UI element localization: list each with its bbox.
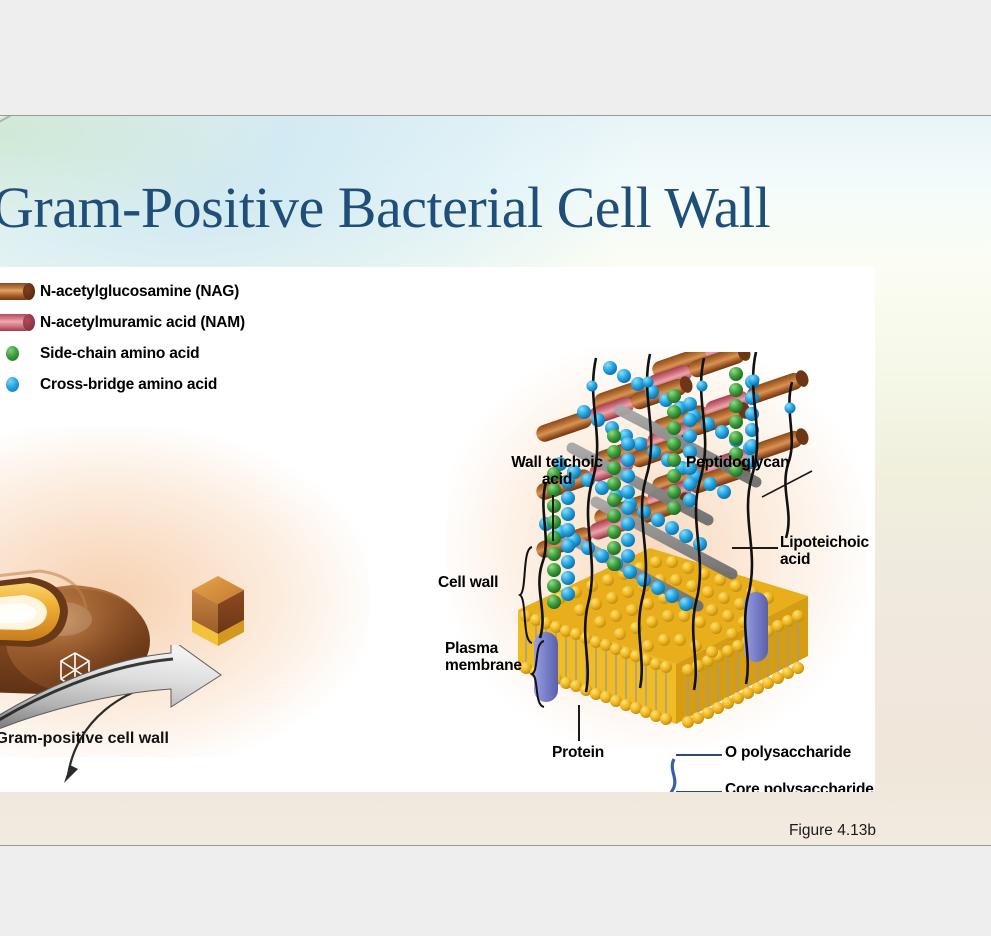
- label-lipoteichoic-acid: Lipoteichoic acid: [780, 535, 875, 568]
- leader-core-polysaccharide: [676, 791, 722, 792]
- legend-item-nam: N-acetylmuramic acid (NAM): [0, 307, 245, 338]
- green-bead-icon: [0, 346, 40, 361]
- label-cell-wall: Cell wall: [438, 575, 498, 592]
- label-o-polysaccharide: O polysaccharide: [725, 745, 851, 762]
- label-core-polysaccharide: Core polysaccharide: [725, 782, 874, 792]
- figure-credit: Figure 4.13b: [789, 822, 876, 840]
- leader-lipoteichoic: [732, 547, 778, 549]
- legend-label-side-chain: Side-chain amino acid: [40, 345, 199, 363]
- label-plasma-membrane: Plasma membrane: [445, 641, 535, 674]
- legend-label-cross-bridge: Cross-bridge amino acid: [40, 376, 217, 394]
- legend-item-side-chain: Side-chain amino acid: [0, 338, 245, 369]
- label-peptidoglycan: Peptidoglycan: [686, 455, 789, 472]
- legend-item-nag: N-acetylglucosamine (NAG): [0, 276, 245, 307]
- legend-item-cross-bridge: Cross-bridge amino acid: [0, 369, 245, 400]
- leader-protein: [578, 705, 580, 741]
- leader-o-polysaccharide: [676, 754, 722, 756]
- legend-label-nag: N-acetylglucosamine (NAG): [40, 283, 239, 301]
- label-protein: Protein: [552, 745, 604, 762]
- legend-label-nam: N-acetylmuramic acid (NAM): [40, 314, 245, 332]
- brown-cylinder-icon: [0, 283, 40, 300]
- decorative-arc-highlight: [0, 115, 143, 179]
- decorative-arc: [0, 115, 147, 182]
- figure-image: N-acetylglucosamine (NAG) N-acetylmurami…: [0, 267, 875, 792]
- leader-peptidoglycan: [760, 467, 820, 501]
- pink-cylinder-icon: [0, 314, 40, 331]
- page-title: Gram-Positive Bacterial Cell Wall: [0, 174, 770, 241]
- leader-wall-teichoic: [552, 495, 554, 541]
- label-wall-teichoic-acid: Wall teichoic acid: [492, 455, 622, 488]
- figure-caption: b) Gram-positive cell wall: [0, 730, 169, 748]
- figure-legend: N-acetylglucosamine (NAG) N-acetylmurami…: [0, 276, 245, 400]
- magnify-arrow: [0, 645, 225, 735]
- slide-canvas: Gram-Positive Bacterial Cell Wall N-acet…: [0, 115, 991, 846]
- blue-bead-icon: [0, 377, 40, 392]
- cube-zoom-icon: [188, 572, 248, 652]
- bracket-cell-wall: [518, 545, 534, 645]
